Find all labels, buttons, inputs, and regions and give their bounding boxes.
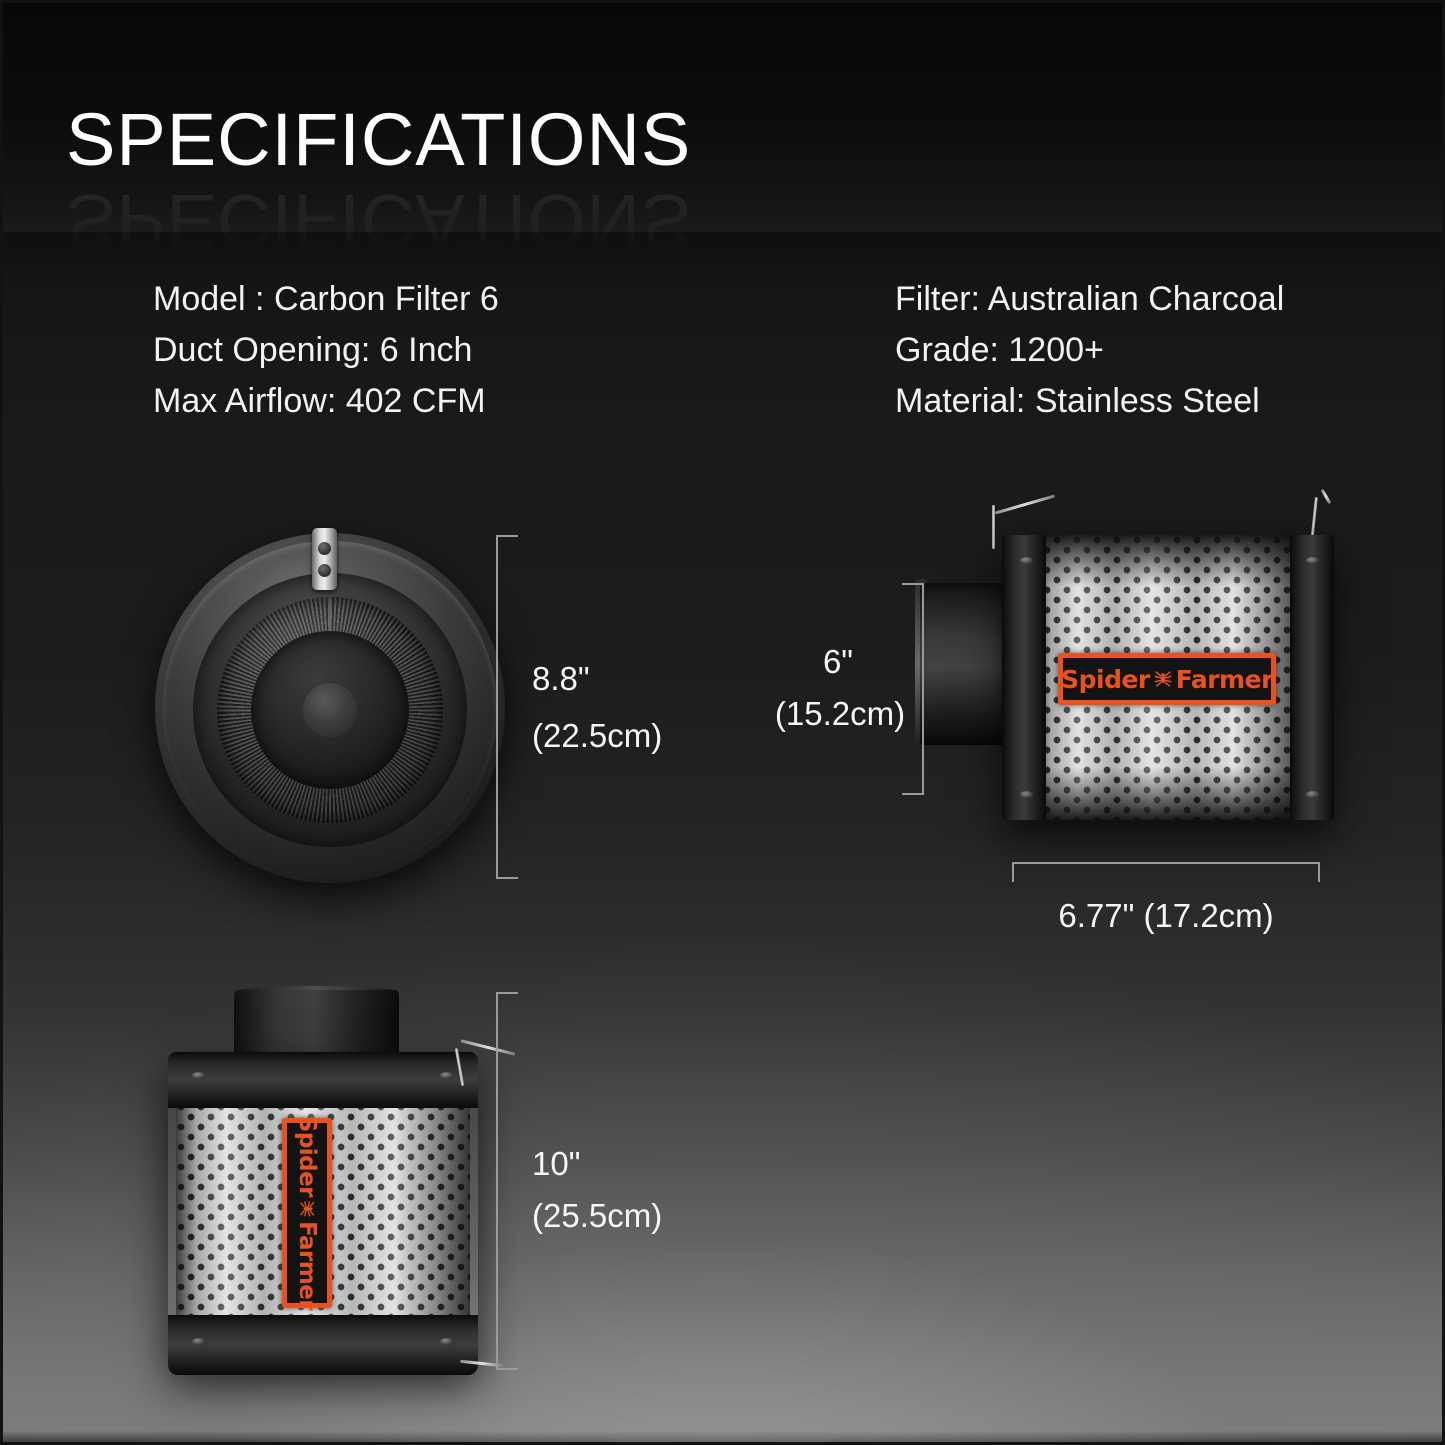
spec-item-max-airflow: Max Airflow: 402 CFM	[153, 376, 499, 427]
screw-icon	[1020, 791, 1033, 798]
spec-list-right: Filter: Australian Charcoal Grade: 1200+…	[895, 274, 1284, 427]
brand-logo-text: Spider Farmer	[294, 1116, 320, 1310]
dimension-label-side-height-metric: (15.2cm)	[770, 690, 910, 737]
end-cap-left	[1002, 535, 1046, 820]
spider-icon	[297, 1199, 317, 1219]
screw-icon	[192, 1072, 205, 1079]
product-front-view	[155, 528, 505, 888]
mounting-clip-icon	[312, 528, 337, 590]
dimension-bracket-side-width	[1012, 862, 1320, 882]
screw-icon	[1020, 557, 1033, 564]
dimension-label-front-height-metric: (22.5cm)	[532, 712, 662, 759]
dimension-label-front-height-inches: 8.8"	[532, 655, 590, 702]
brand-word-right: Farmer	[294, 1221, 320, 1310]
spec-item-grade: Grade: 1200+	[895, 325, 1284, 376]
filter-center-hub	[303, 683, 357, 737]
duct-opening	[920, 583, 1008, 745]
header: SPECIFICATIONS SPECIFICATIONS	[66, 103, 691, 177]
screw-icon	[440, 1072, 453, 1079]
spec-item-duct-opening: Duct Opening: 6 Inch	[153, 325, 499, 376]
end-cap-right	[1290, 535, 1334, 820]
hanging-hook-left-icon	[995, 495, 1055, 515]
brand-logo-text: Spider Farmer	[1061, 665, 1273, 694]
dimension-label-side-width: 6.77" (17.2cm)	[1012, 892, 1320, 939]
product-side-view: Spider Farmer	[920, 495, 1340, 865]
end-cap-bottom	[168, 1315, 478, 1375]
screw-icon	[1306, 791, 1319, 798]
brand-word-left: Spider	[1061, 665, 1150, 694]
dimension-bracket-side-height	[902, 583, 924, 795]
brand-logo-badge: Spider Farmer	[1058, 653, 1276, 705]
dimension-label-side-height-inches: 6"	[790, 638, 886, 685]
end-cap-top	[168, 1052, 478, 1108]
screw-icon	[440, 1338, 453, 1345]
page-title: SPECIFICATIONS	[66, 103, 691, 177]
brand-logo-badge: Spider Farmer	[282, 1118, 332, 1308]
spec-item-material: Material: Stainless Steel	[895, 376, 1284, 427]
dimension-bracket-upright-height	[496, 992, 518, 1370]
hanging-hook-left-stem-icon	[992, 505, 995, 549]
dimension-label-upright-height-inches: 10"	[532, 1140, 580, 1187]
screw-icon	[192, 1338, 205, 1345]
dimension-bracket-front-height	[496, 535, 518, 879]
spec-list-left: Model : Carbon Filter 6 Duct Opening: 6 …	[153, 274, 499, 427]
spec-item-model: Model : Carbon Filter 6	[153, 274, 499, 325]
brand-word-left: Spider	[294, 1116, 320, 1197]
dimension-label-upright-height-metric: (25.5cm)	[532, 1192, 662, 1239]
product-upright-view: Spider Farmer	[168, 990, 508, 1380]
mesh-top-shadow	[1032, 535, 1304, 587]
mesh-bottom-shadow	[1032, 767, 1304, 820]
spec-item-filter: Filter: Australian Charcoal	[895, 274, 1284, 325]
product-spec-sheet: SPECIFICATIONS SPECIFICATIONS Model : Ca…	[0, 0, 1445, 1445]
spider-icon	[1152, 668, 1174, 690]
screw-icon	[1306, 557, 1319, 564]
brand-word-right: Farmer	[1176, 665, 1273, 694]
